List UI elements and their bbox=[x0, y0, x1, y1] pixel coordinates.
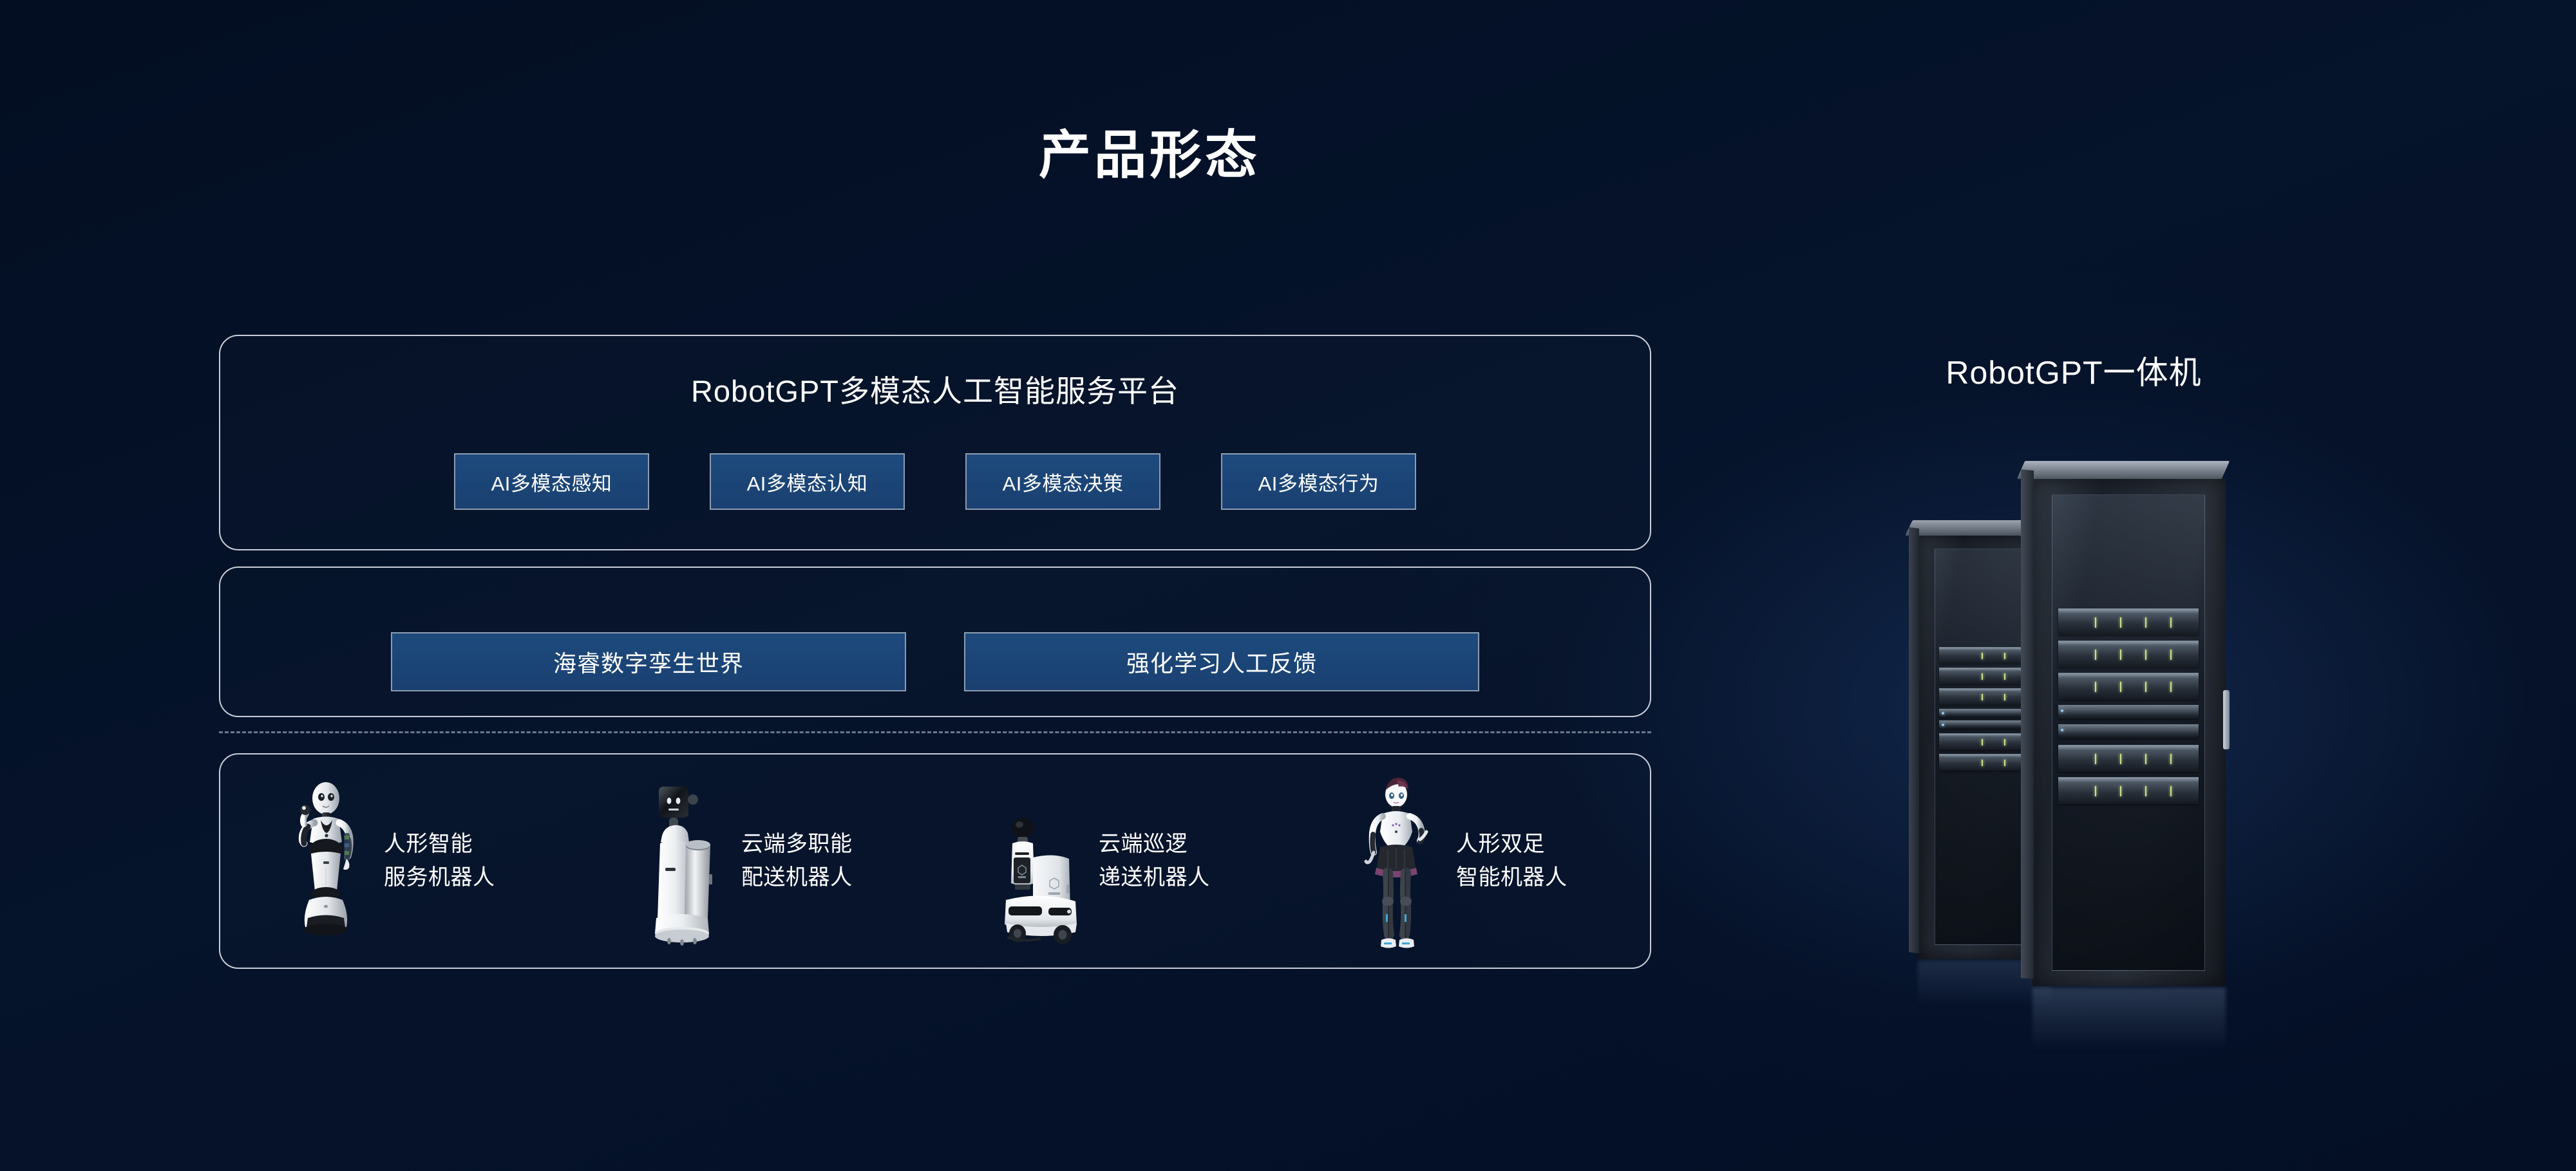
cabinet-door-handle[interactable] bbox=[2223, 690, 2230, 749]
robots-panel: 人形智能 服务机器人 bbox=[219, 753, 1651, 969]
rack-units bbox=[2052, 495, 2204, 970]
robot-cell-humanoid-service[interactable]: 人形智能 服务机器人 bbox=[220, 765, 578, 958]
cabinet-top-bevel bbox=[2017, 461, 2230, 479]
robot-label-line1: 人形双足 bbox=[1456, 828, 1567, 861]
rack-unit bbox=[2058, 641, 2198, 668]
capability-chip-behavior[interactable]: AI多模态行为 bbox=[1221, 453, 1416, 510]
platform-panel-title: RobotGPT多模态人工智能服务平台 bbox=[220, 366, 1650, 411]
robot-cell-cloud-delivery[interactable]: 云端多职能 配送机器人 bbox=[578, 765, 935, 958]
robot-label-line1: 云端多职能 bbox=[741, 828, 853, 861]
capability-chip-cognition[interactable]: AI多模态认知 bbox=[710, 453, 905, 510]
biped-humanoid-robot-icon bbox=[1348, 771, 1444, 951]
rack-unit bbox=[2058, 673, 2198, 700]
rack-unit bbox=[2058, 777, 2198, 804]
robot-label-biped-humanoid: 人形双足 智能机器人 bbox=[1456, 828, 1567, 894]
rack-unit bbox=[2058, 608, 2198, 635]
section-divider bbox=[219, 731, 1651, 733]
robot-label-line2: 服务机器人 bbox=[384, 861, 495, 895]
appliance-title: RobotGPT一体机 bbox=[1906, 347, 2241, 393]
cabinet-side-panel bbox=[2021, 469, 2034, 979]
cabinet-glass-door bbox=[2052, 494, 2205, 971]
rack-unit bbox=[1939, 647, 2032, 664]
robot-label-line2: 递送机器人 bbox=[1099, 861, 1210, 895]
robot-row: 人形智能 服务机器人 bbox=[220, 754, 1650, 968]
robot-label-cloud-delivery: 云端多职能 配送机器人 bbox=[741, 828, 853, 894]
rack-unit-thin bbox=[2058, 705, 2198, 719]
cloud-delivery-robot-icon bbox=[633, 771, 730, 951]
rack-unit bbox=[1939, 688, 2032, 705]
engine-bar-rlhf[interactable]: 强化学习人工反馈 bbox=[964, 632, 1479, 691]
rack-unit bbox=[2058, 745, 2198, 772]
capability-chip-perception[interactable]: AI多模态感知 bbox=[454, 453, 649, 510]
rack-reflection-front bbox=[2032, 988, 2226, 1049]
server-cabinet-front bbox=[2032, 478, 2226, 986]
page-title-text: 产品形态 bbox=[1039, 113, 1260, 189]
patrol-delivery-robot-icon bbox=[990, 771, 1087, 951]
rack-unit bbox=[1939, 733, 2032, 750]
robot-label-patrol-delivery: 云端巡逻 递送机器人 bbox=[1099, 828, 1210, 894]
robot-label-line1: 云端巡逻 bbox=[1099, 828, 1210, 861]
robot-label-humanoid-service: 人形智能 服务机器人 bbox=[384, 828, 495, 894]
engine-bar-row: 海睿数字孪生世界 强化学习人工反馈 bbox=[220, 632, 1650, 691]
rack-unit bbox=[1939, 668, 2032, 684]
rack-unit-thin bbox=[1939, 720, 2032, 729]
robot-label-line2: 智能机器人 bbox=[1456, 861, 1567, 895]
page-title: 产品形态 bbox=[0, 113, 2576, 189]
rack-unit-thin bbox=[2058, 724, 2198, 738]
cabinet-side-panel bbox=[1909, 527, 1919, 953]
rack-unit bbox=[1939, 754, 2032, 771]
robot-label-line2: 配送机器人 bbox=[741, 861, 853, 895]
engine-panel: 海睿数字孪生世界 强化学习人工反馈 bbox=[219, 567, 1651, 717]
slide-root: 产品形态 RobotGPT多模态人工智能服务平台 AI多模态感知 AI多模态认知… bbox=[0, 0, 2576, 1171]
rack-unit-thin bbox=[1939, 709, 2032, 717]
platform-panel: RobotGPT多模态人工智能服务平台 AI多模态感知 AI多模态认知 AI多模… bbox=[219, 335, 1651, 550]
humanoid-service-robot-icon bbox=[276, 771, 372, 951]
capability-chip-decision[interactable]: AI多模态决策 bbox=[965, 453, 1160, 510]
robot-label-line1: 人形智能 bbox=[384, 828, 495, 861]
capability-chip-row: AI多模态感知 AI多模态认知 AI多模态决策 AI多模态行为 bbox=[220, 453, 1650, 510]
robot-cell-biped-humanoid[interactable]: 人形双足 智能机器人 bbox=[1293, 765, 1650, 958]
robot-cell-patrol-delivery[interactable]: 云端巡逻 递送机器人 bbox=[935, 765, 1293, 958]
server-rack-cabinet-icon bbox=[1906, 418, 2254, 1030]
engine-bar-digital-twin[interactable]: 海睿数字孪生世界 bbox=[391, 632, 906, 691]
